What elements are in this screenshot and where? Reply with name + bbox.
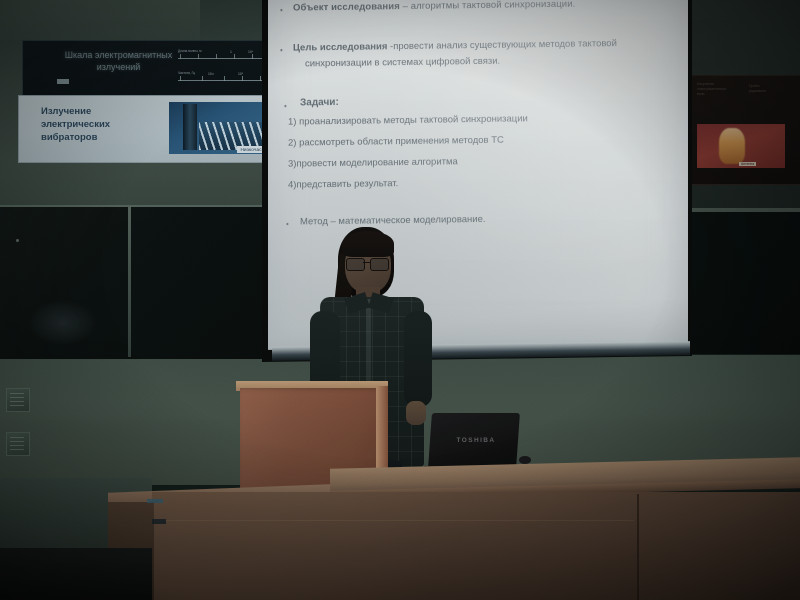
desk-front-highlight [152, 492, 800, 600]
desk-blue-sticker [147, 499, 163, 503]
poster-right-line: Излучение [697, 82, 714, 86]
tick [224, 76, 225, 81]
desk-panel-seam [156, 520, 634, 521]
wall-sign-glyph [10, 436, 24, 450]
lecture-hall-photo: Шкала электромагнитных излучений Длина в… [0, 0, 800, 600]
slide-bullet-glyph: • [286, 221, 289, 229]
presenter-arm-right [404, 311, 432, 407]
wall-sign-lower [6, 432, 30, 456]
poster-right-line: Приём [749, 84, 759, 88]
poster-em-spectrum-title: Шкала электромагнитных излучений [61, 49, 176, 73]
tick [252, 54, 253, 59]
axis-wavelength-label: Длина волны, м [178, 49, 201, 53]
tick [198, 54, 199, 59]
axis-frequency-line [178, 80, 266, 81]
tick [234, 54, 235, 59]
slide-line-object-of-study: Объект исследования – алгоритмы тактовой… [293, 0, 575, 14]
desk-vertical-seam [637, 494, 639, 600]
laptop-brand-label: TOSHIBA [452, 437, 500, 444]
slide-bullet-glyph: • [280, 47, 283, 55]
axis-exponent: 10⁴ [248, 50, 253, 54]
slide-line-tasks-heading: Задачи: [300, 97, 339, 109]
slide-task-3: 3)провести моделирование алгоритма [288, 156, 458, 169]
axis-frequency: Частота, Гц 10¹² 10⁸ [178, 72, 266, 87]
poster-right-figure-shape [719, 128, 745, 164]
slide-line-goal: Цель исследования -провести анализ сущес… [293, 38, 617, 54]
poster-right-col2: Приём радиоволн [749, 84, 789, 94]
axis-exponent: 1 [230, 50, 232, 54]
glasses-lens-right [370, 258, 389, 271]
poster-right-line: электромагнитных [697, 87, 726, 91]
slide-line-rest: -провести анализ существующих методов та… [387, 38, 616, 52]
tick [260, 76, 261, 81]
tick [180, 76, 181, 81]
slide-line-bold: Объект исследования [293, 1, 400, 13]
wall-sign-upper [6, 388, 30, 412]
poster-em-spectrum-axes: Длина волны, м 1 10⁴ Частота, Гц 10¹² [178, 50, 266, 90]
poster-electric-vibrators: Излучение электрических вибраторов Низко… [18, 95, 282, 163]
poster-electric-vibrators-title: Излучение электрических вибраторов [41, 105, 151, 144]
wall-left-strip [0, 0, 200, 40]
presenter-glasses [346, 258, 390, 269]
poster-right-line: волн [697, 92, 704, 96]
tick [202, 76, 203, 81]
slide-task-2: 2) рассмотреть области применения методо… [288, 135, 504, 149]
slide-bullet-glyph: • [280, 7, 283, 15]
axis-frequency-label: Частота, Гц [178, 71, 195, 75]
slide-bullet-glyph: • [284, 103, 287, 111]
slide-line-bold: Цель исследования [293, 41, 387, 53]
tick [216, 54, 217, 59]
presenter-hair-top [342, 231, 394, 257]
slide-task-4: 4)представить результат. [288, 178, 398, 191]
chalk-speck [16, 239, 19, 242]
poster-right-line: радиоволн [749, 89, 766, 93]
laptop-side-connector [519, 456, 531, 464]
glasses-lens-left [346, 258, 365, 271]
poster-em-spectrum-scale: Шкала электромагнитных излучений Длина в… [22, 40, 272, 100]
floor-shadow [0, 548, 152, 600]
axis-exponent: 10¹² [208, 72, 214, 76]
desk-dark-sticker [152, 519, 166, 524]
poster-right-caption: Антенна [739, 162, 756, 166]
poster-em-spectrum-marker [57, 79, 69, 84]
axis-wavelength: Длина волны, м 1 10⁴ [178, 50, 266, 65]
tick [180, 54, 181, 59]
glasses-bridge [363, 262, 370, 263]
tick [242, 76, 243, 81]
slide-task-1: 1) проанализировать методы тактовой синх… [288, 113, 528, 127]
axis-exponent: 10⁸ [238, 72, 243, 76]
chalkboard-seam [128, 207, 131, 357]
chalkboard-glare [28, 300, 98, 346]
antenna-tower-shape [183, 104, 197, 150]
wall-sign-glyph [10, 392, 24, 406]
poster-right-wall: Излучение электромагнитных волн Приём ра… [690, 75, 800, 185]
poster-right-col1: Излучение электромагнитных волн [697, 82, 741, 97]
poster-right-illustration: Антенна [697, 124, 785, 168]
slide-line-goal-cont: синхронизации в системах цифровой связи. [305, 56, 500, 70]
presenter-hand-right [406, 401, 426, 425]
slide-line-rest: – алгоритмы тактовой синхронизации. [400, 0, 575, 12]
